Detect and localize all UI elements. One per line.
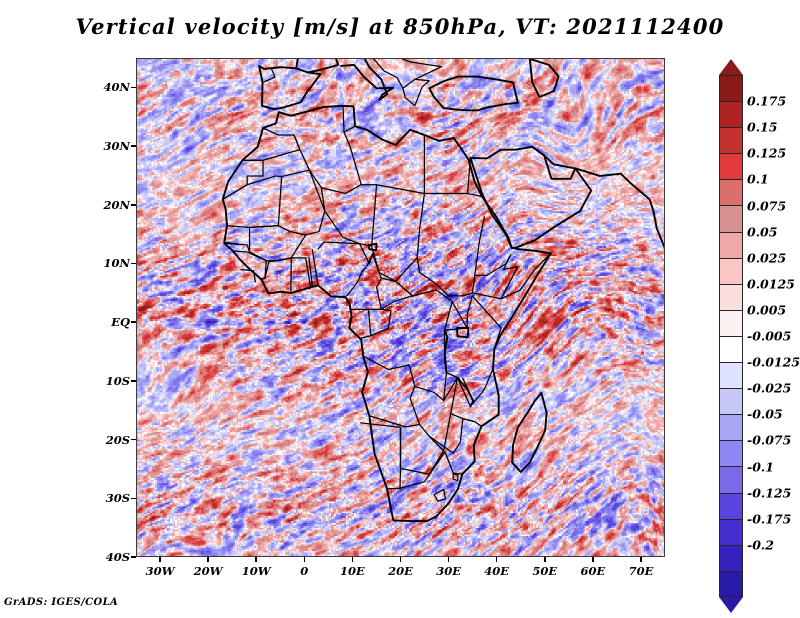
footer-credit: GrADS: IGES/COLA — [4, 597, 118, 608]
colorbar-band — [719, 101, 743, 127]
country-borders-overlay — [137, 59, 664, 556]
colorbar-arrow-min — [719, 597, 743, 613]
colorbar-band — [719, 179, 743, 205]
coastline-persia — [532, 147, 664, 258]
border-lesotho — [434, 489, 445, 501]
colorbar-tick-label: 0.025 — [747, 250, 786, 265]
longitude-tick — [496, 557, 498, 562]
colorbar-tick-label: -0.0125 — [747, 355, 800, 370]
colorbar-band — [719, 284, 743, 310]
border-balkans — [370, 59, 442, 88]
border-swazi — [453, 474, 458, 481]
border-mali — [250, 170, 325, 261]
longitude-tick — [255, 557, 257, 562]
longitude-label: 30W — [146, 564, 175, 578]
border-chadb — [372, 185, 418, 282]
latitude-tick — [131, 439, 136, 441]
colorbar-tick-label: 0.05 — [747, 224, 777, 239]
coastline-turkey — [429, 77, 518, 111]
colorbar-band — [719, 545, 743, 571]
colorbar-band — [719, 466, 743, 492]
latitude-label: 30N — [92, 139, 130, 153]
latitude-label: 10S — [92, 374, 130, 388]
longitude-label: 10E — [340, 564, 365, 578]
border-drc_w — [363, 290, 452, 400]
map-plot-area — [136, 58, 665, 557]
latitude-label: 30S — [92, 491, 130, 505]
latitude-tick — [131, 87, 136, 89]
colorbar-band — [719, 75, 743, 101]
border-ivory — [265, 258, 291, 293]
latitude-label: 40N — [92, 80, 130, 94]
border-algeria — [294, 106, 361, 194]
coastline-madagascar — [512, 393, 546, 472]
coastline-france — [282, 59, 341, 72]
longitude-label: 20E — [388, 564, 413, 578]
colorbar-tick-label: 0.125 — [747, 146, 786, 161]
border-tunisia_s — [344, 126, 355, 132]
colorbar-tick-label: 0.175 — [747, 94, 786, 109]
latitude-label: 20S — [92, 433, 130, 447]
longitude-label: 10W — [242, 564, 271, 578]
latitude-tick — [131, 556, 136, 558]
latitude-tick — [131, 263, 136, 265]
longitude-label: 30E — [436, 564, 461, 578]
border-greece — [403, 79, 429, 105]
border-mauritania — [223, 176, 282, 228]
longitude-tick — [207, 557, 209, 562]
longitude-label: 0 — [300, 564, 308, 578]
longitude-tick — [448, 557, 450, 562]
colorbar-band — [719, 205, 743, 231]
border-egypt — [424, 158, 470, 194]
colorbar-tick-label: -0.05 — [747, 407, 783, 422]
border-congo — [371, 309, 391, 335]
coastline-africa — [223, 106, 551, 521]
coastline-redsea_w — [470, 158, 511, 248]
border-ghana — [291, 258, 310, 287]
colorbar-arrow-max — [719, 59, 743, 75]
border-morocco — [242, 128, 299, 160]
longitude-label: 40E — [484, 564, 509, 578]
colorbar-tick-label: -0.005 — [747, 329, 791, 344]
latitude-tick — [131, 145, 136, 147]
border-niger — [321, 188, 371, 246]
longitude-tick — [544, 557, 546, 562]
border-zimbabwe — [429, 413, 462, 453]
coastline-arabia — [470, 147, 591, 248]
border-namibia — [361, 423, 401, 489]
colorbar-tick-label: -0.175 — [747, 511, 791, 526]
colorbar-tick-label: 0.1 — [747, 172, 769, 187]
latitude-label: 20N — [92, 198, 130, 212]
colorbar-band — [719, 440, 743, 466]
longitude-label: 60E — [580, 564, 605, 578]
border-nigeria — [318, 242, 373, 296]
colorbar-band — [719, 127, 743, 153]
colorbar-tick-label: -0.1 — [747, 459, 774, 474]
longitude-tick — [640, 557, 642, 562]
colorbar-band — [719, 414, 743, 440]
coastline-caspian — [530, 59, 559, 97]
colorbar — [719, 75, 743, 597]
colorbar-band — [719, 336, 743, 362]
longitude-label: 70E — [629, 564, 654, 578]
colorbar-tick-label: -0.2 — [747, 537, 774, 552]
longitude-label: 50E — [532, 564, 557, 578]
border-spainborder — [263, 69, 275, 82]
coastline-italy — [341, 59, 393, 100]
colorbar-band — [719, 310, 743, 336]
longitude-tick — [159, 557, 161, 562]
colorbar-band — [719, 232, 743, 258]
colorbar-tick-label: 0.075 — [747, 198, 786, 213]
latitude-tick — [131, 380, 136, 382]
border-guinea — [233, 251, 266, 280]
colorbar-tick-label: -0.075 — [747, 433, 791, 448]
colorbar-band — [719, 388, 743, 414]
colorbar-band — [719, 571, 743, 597]
page-title: Vertical velocity [m/s] at 850hPa, VT: 2… — [0, 14, 800, 39]
colorbar-band — [719, 493, 743, 519]
colorbar-band — [719, 519, 743, 545]
latitude-label: EQ — [92, 315, 130, 329]
longitude-tick — [400, 557, 402, 562]
border-car — [381, 278, 412, 309]
colorbar-tick-label: -0.025 — [747, 381, 791, 396]
colorbar-tick-label: 0.15 — [747, 120, 777, 135]
longitude-tick — [592, 557, 594, 562]
border-botswana — [400, 427, 443, 474]
latitude-tick — [131, 498, 136, 500]
border-kenya — [467, 296, 501, 349]
border-gabon — [349, 309, 371, 338]
border-sleone — [241, 269, 255, 281]
border-benin — [312, 250, 318, 286]
border-ethiopia — [472, 255, 518, 299]
latitude-label: 40S — [92, 550, 130, 564]
colorbar-band — [719, 153, 743, 179]
longitude-tick — [352, 557, 354, 562]
latitude-tick — [131, 204, 136, 206]
longitude-tick — [304, 557, 306, 562]
colorbar-tick-label: 0.005 — [747, 302, 786, 317]
colorbar-tick-label: 0.0125 — [747, 276, 795, 291]
border-cameroon — [352, 254, 382, 310]
colorbar-band — [719, 362, 743, 388]
longitude-label: 20W — [194, 564, 223, 578]
colorbar-tick-label: -0.125 — [747, 485, 791, 500]
latitude-label: 10N — [92, 256, 130, 270]
border-sudan_s — [417, 193, 484, 295]
border-mozambique — [463, 419, 482, 427]
latitude-tick — [131, 321, 136, 323]
colorbar-band — [719, 258, 743, 284]
